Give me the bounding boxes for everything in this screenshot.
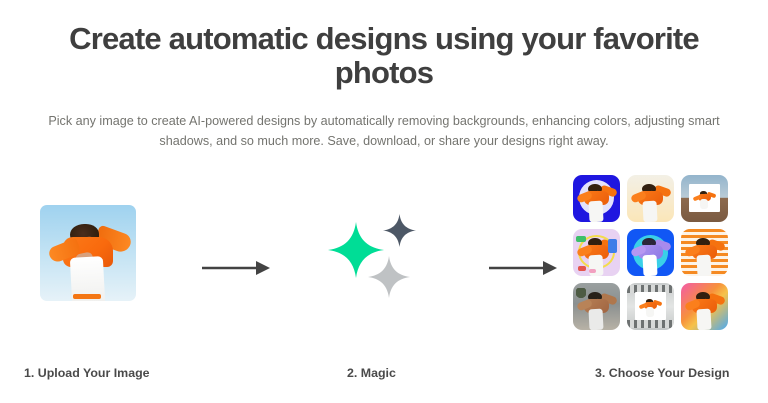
tile-subject: [627, 175, 674, 222]
tile-subject: [573, 175, 620, 222]
arrow-right-icon: [200, 258, 270, 278]
design-tile-beach-frame[interactable]: [681, 175, 728, 222]
page-title: Create automatic designs using your favo…: [40, 22, 728, 90]
tile-film-bar-bottom: [627, 320, 674, 328]
steps-row: [0, 165, 768, 365]
step-labels: 1. Upload Your Image 2. Magic 3. Choose …: [0, 366, 768, 388]
step-upload-image[interactable]: [40, 205, 136, 301]
step-label-upload: 1. Upload Your Image: [24, 366, 150, 380]
step-magic[interactable]: [326, 210, 426, 298]
sparkle-medium-gray-icon: [368, 256, 410, 298]
tile-photo-frame: [689, 184, 721, 211]
tile-subject: [573, 283, 620, 330]
tile-sticker-blue: [608, 239, 617, 253]
uploaded-photo-image[interactable]: [40, 205, 136, 301]
tile-subject: [681, 283, 728, 330]
design-tile-rainbow[interactable]: [681, 283, 728, 330]
tile-sticker-pink: [589, 269, 597, 274]
arrow-right-icon: [487, 258, 557, 278]
design-tile-gray-palms[interactable]: [573, 283, 620, 330]
design-tile-orange-stripes[interactable]: [681, 229, 728, 276]
step-choose-design[interactable]: [573, 175, 728, 330]
step-label-magic: 2. Magic: [347, 366, 396, 380]
design-tile-cream-gradient[interactable]: [627, 175, 674, 222]
design-grid: [573, 175, 728, 330]
tile-subject: [691, 187, 717, 209]
tile-subject: [681, 229, 728, 276]
design-tile-film-strip[interactable]: [627, 283, 674, 330]
tile-subject: [637, 295, 663, 317]
step-label-choose: 3. Choose Your Design: [595, 366, 730, 380]
tile-photo-frame: [635, 292, 667, 319]
sparkle-small-dark-icon: [383, 214, 416, 247]
tile-subject: [627, 229, 674, 276]
design-tile-blue-cutout[interactable]: [573, 175, 620, 222]
page-subtitle: Pick any image to create AI-powered desi…: [24, 111, 744, 151]
tile-sticker-green: [576, 236, 586, 242]
tile-sticker-red: [578, 266, 586, 272]
design-tile-blue-duotone[interactable]: [627, 229, 674, 276]
photo-belt: [73, 294, 102, 299]
design-tile-lavender-stickers[interactable]: [573, 229, 620, 276]
